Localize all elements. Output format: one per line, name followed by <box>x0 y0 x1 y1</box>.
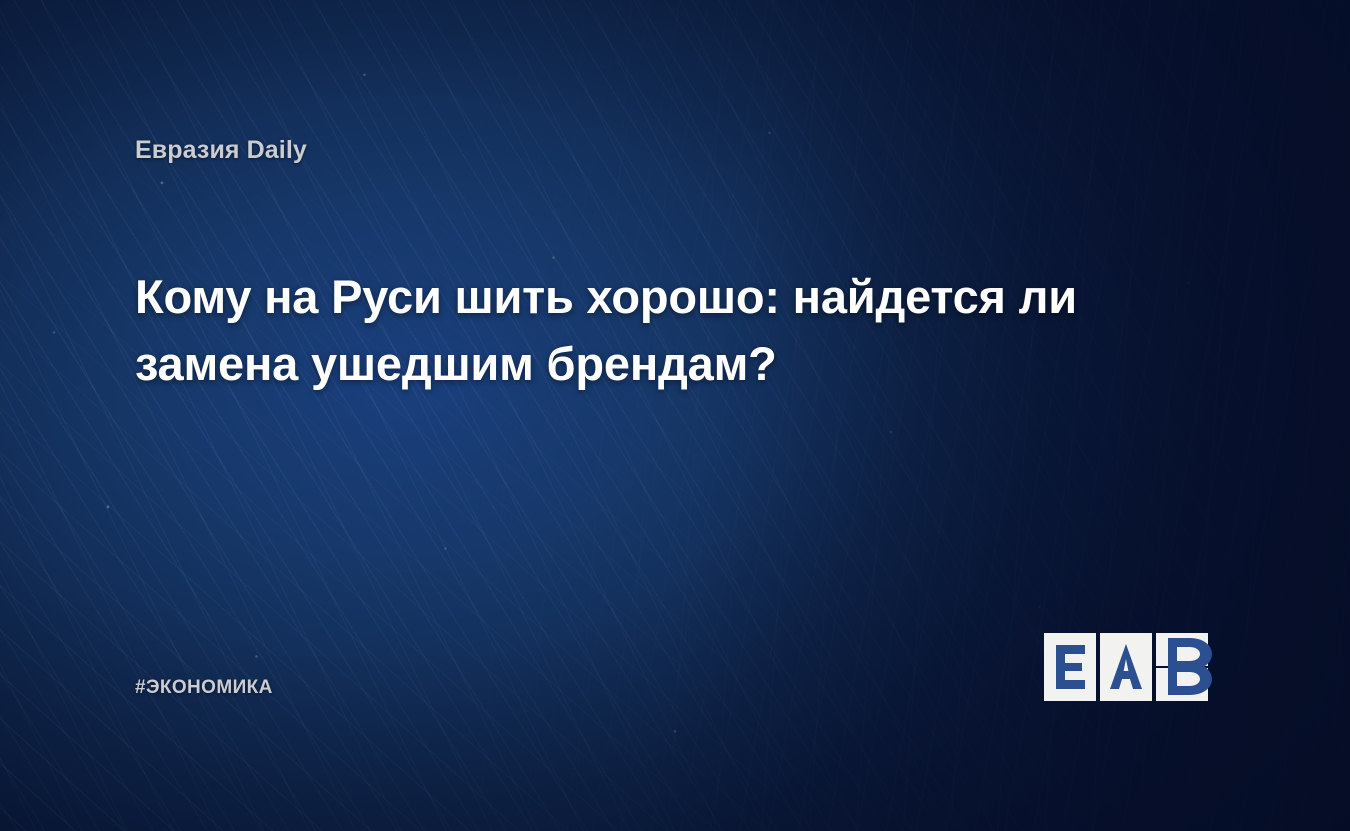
article-cover-card: Евразия Daily Кому на Руси шить хорошо: … <box>0 0 1350 831</box>
logo-letter-e-icon <box>1044 633 1096 701</box>
logo-tile-a <box>1100 633 1152 701</box>
card-content: Евразия Daily Кому на Руси шить хорошо: … <box>0 0 1350 831</box>
logo-letter-a-icon <box>1100 633 1152 701</box>
article-headline: Кому на Руси шить хорошо: найдется ли за… <box>135 264 1150 397</box>
logo-tile-e <box>1044 633 1096 701</box>
publisher-brand-label: Евразия Daily <box>135 136 307 165</box>
eadaily-logo[interactable] <box>1044 633 1222 701</box>
logo-tile-d <box>1156 633 1218 701</box>
category-tag-economics[interactable]: #ЭКОНОМИКА <box>135 677 273 699</box>
logo-letter-d-icon <box>1156 633 1218 701</box>
